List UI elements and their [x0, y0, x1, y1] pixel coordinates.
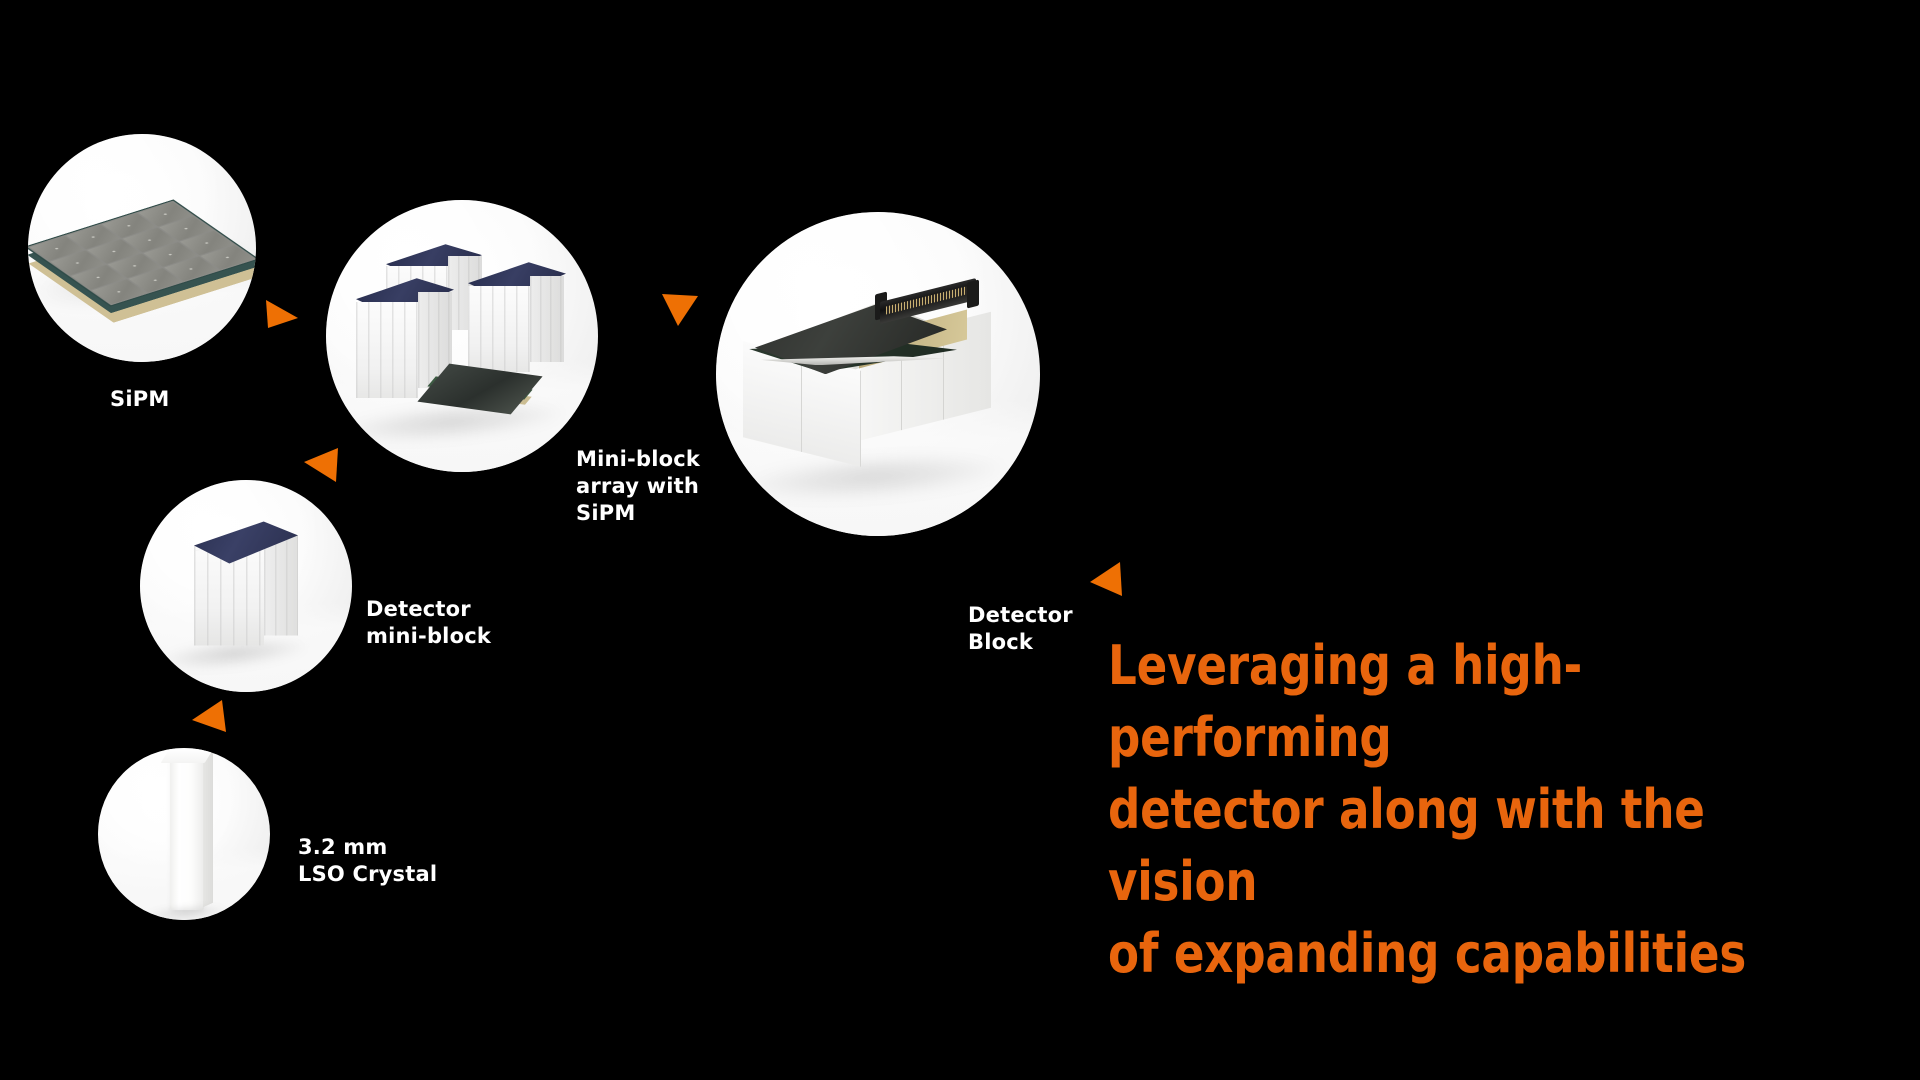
node-image-lso-crystal	[98, 748, 270, 920]
slide-canvas: SiPM	[0, 0, 1920, 1080]
node-label-lso-crystal: 3.2 mm LSO Crystal	[298, 834, 437, 888]
sipm-artwork	[54, 178, 230, 328]
arrow-block-to-headline	[1086, 556, 1134, 604]
node-image-detector-mini-block	[140, 480, 352, 692]
headline-text: Leveraging a high-performing detector al…	[1108, 630, 1843, 990]
node-label-mini-block-array: Mini-block array with SiPM	[576, 446, 700, 527]
node-label-sipm: SiPM	[110, 386, 169, 413]
arrow-crystal-to-miniblock	[188, 694, 236, 742]
detector-mini-block-artwork	[194, 522, 298, 646]
arrow-sipm-to-array	[262, 288, 308, 334]
detector-block-artwork	[743, 282, 1013, 472]
node-image-mini-block-array	[326, 200, 598, 472]
lso-crystal-artwork	[170, 758, 204, 910]
arrow-miniblock-to-array	[298, 440, 346, 488]
node-label-detector-mini-block: Detector mini-block	[366, 596, 491, 650]
node-image-sipm	[28, 134, 256, 362]
mini-block-array-artwork	[342, 238, 582, 428]
node-image-detector-block	[716, 212, 1040, 536]
node-label-detector-block: Detector Block	[968, 602, 1073, 656]
arrow-array-to-block	[656, 282, 704, 330]
